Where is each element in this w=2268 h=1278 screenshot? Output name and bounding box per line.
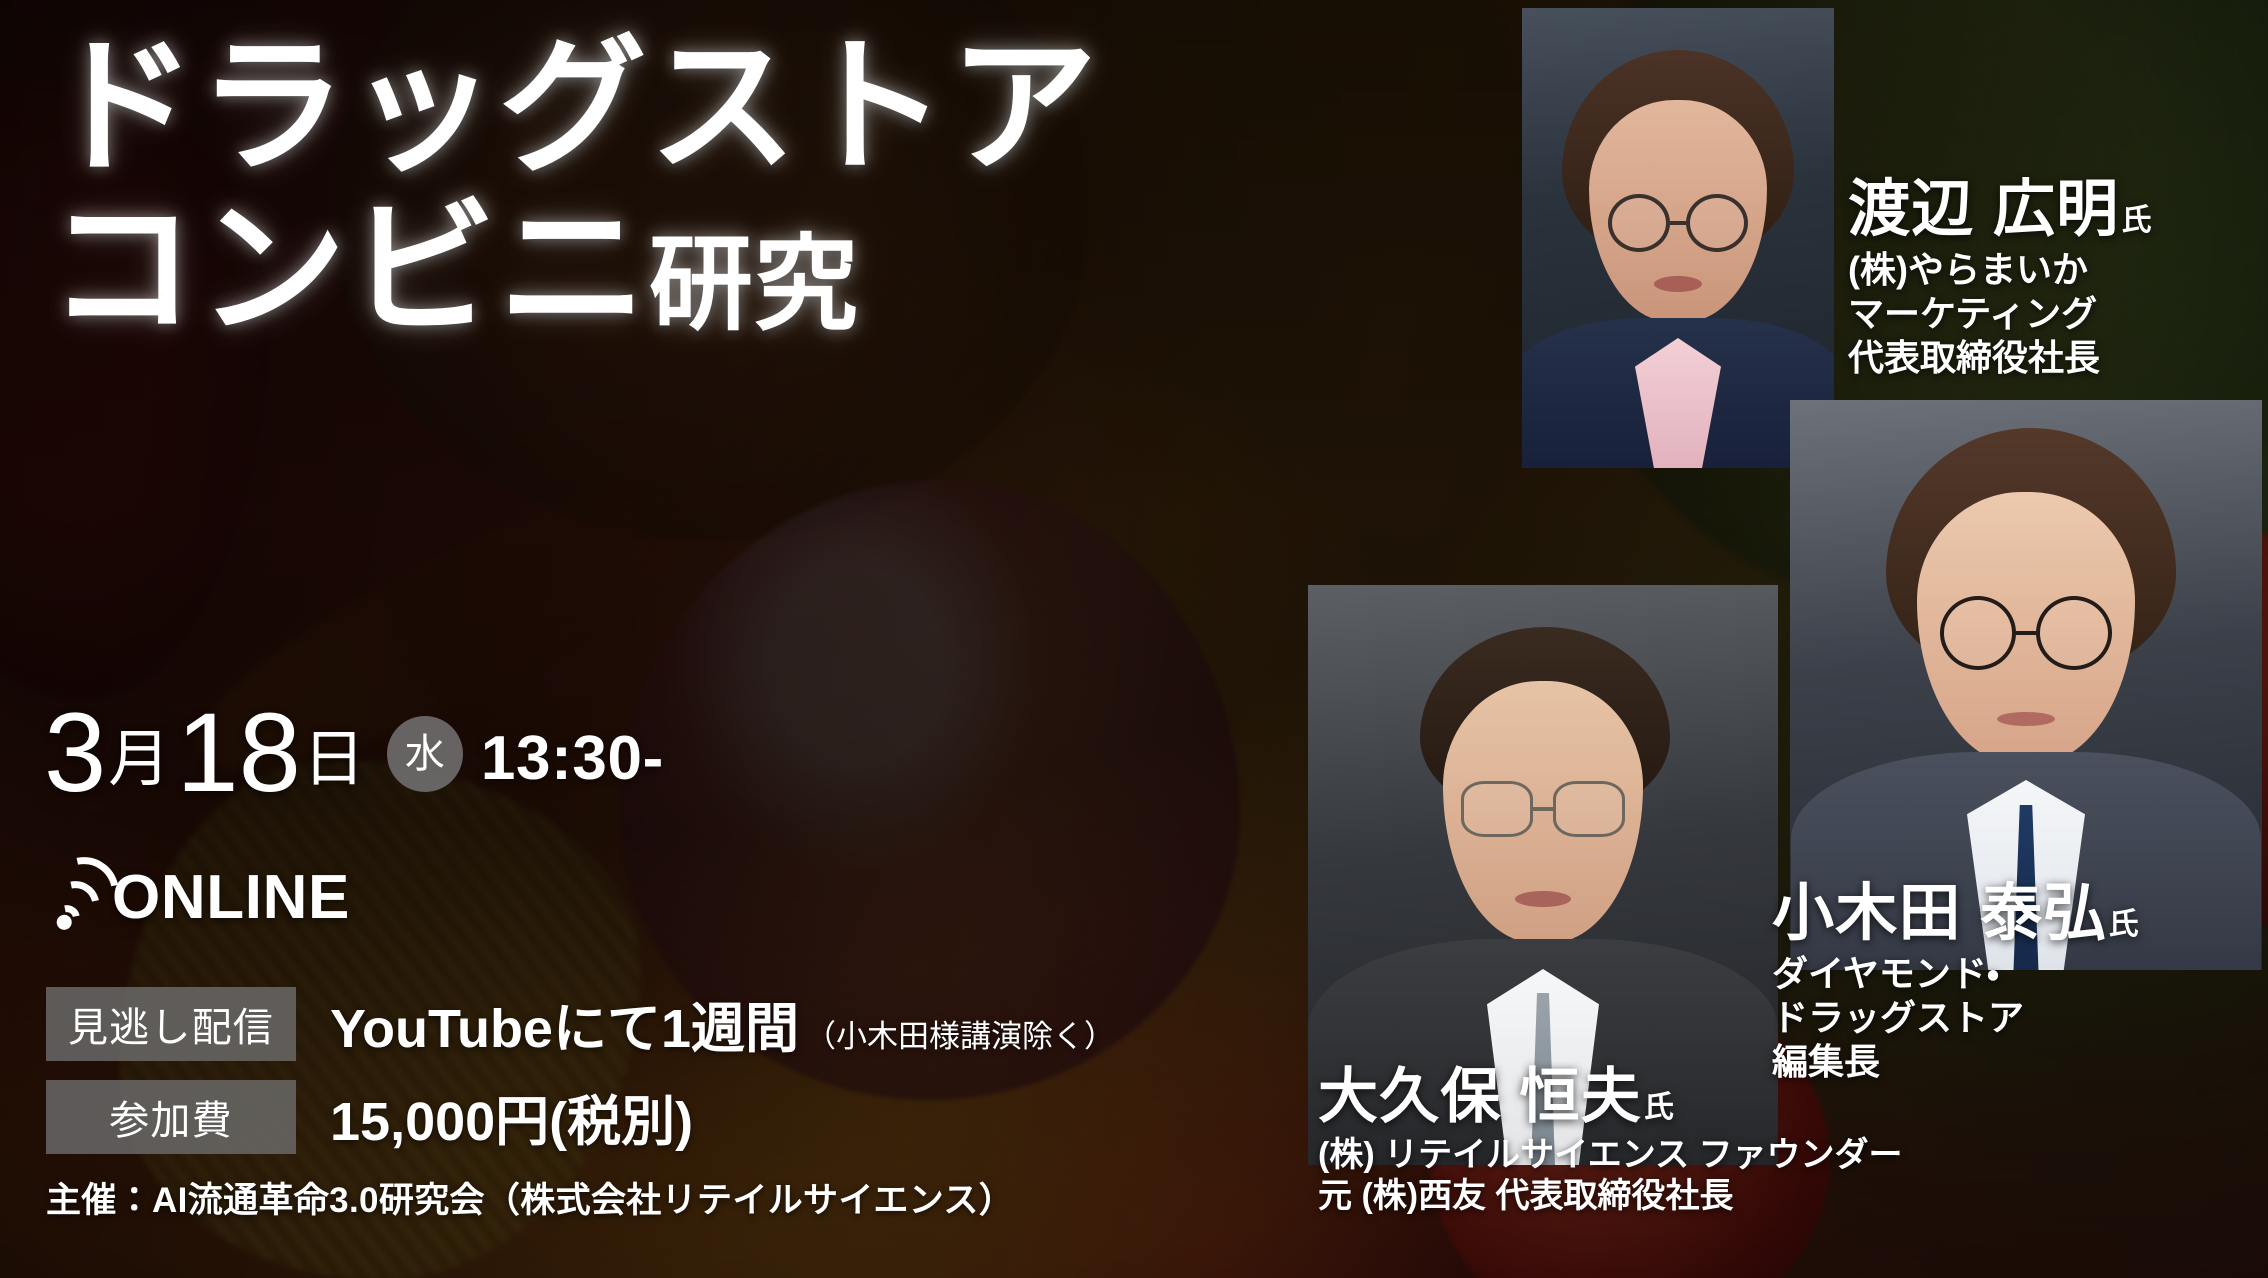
speaker-name-suffix: 氏 xyxy=(2109,899,2140,943)
info-row: 見逃し配信 YouTubeにて1週間 （小木田様講演除く） xyxy=(46,984,1115,1063)
speaker-affiliation-line: 元 (株)西友 代表取締役社長 xyxy=(1318,1176,1903,1217)
info-table: 見逃し配信 YouTubeにて1週間 （小木田様講演除く） 参加費 15,000… xyxy=(46,984,1115,1170)
speaker-affiliation-line: ダイヤモンド・ xyxy=(1772,952,2140,996)
speaker-name-text: 小木田 泰弘 xyxy=(1772,862,2107,952)
day-of-week-badge: 水 xyxy=(387,716,463,792)
info-tag-fee: 参加費 xyxy=(46,1080,296,1154)
speaker-affiliation-line: (株)やらまいか xyxy=(1848,248,2153,292)
speaker-photo-watanabe xyxy=(1522,8,1834,468)
info-value-fee-text: 15,000円(税別) xyxy=(330,1077,693,1156)
speaker-affiliation-line: マーケティング xyxy=(1848,292,2153,336)
title-line-2: コンビニ研究 xyxy=(48,196,1100,344)
event-time: 13:30- xyxy=(481,723,664,794)
glasses-icon xyxy=(1461,781,1625,837)
glasses-icon xyxy=(1940,596,2112,670)
host-organizer: 主催：AI流通革命3.0研究会（株式会社リテイルサイエンス） xyxy=(46,1172,1014,1223)
wifi-icon xyxy=(38,857,123,938)
mouth xyxy=(1997,712,2055,726)
title-line-2-suffix: 研究 xyxy=(649,227,859,343)
left-content-column: ドラッグストア コンビニ研究 3 月 18 日 水 13:30- ONLINE … xyxy=(0,0,1260,1278)
speaker-name: 大久保 恒夫 氏 xyxy=(1318,1048,1903,1135)
seminar-banner: ドラッグストア コンビニ研究 3 月 18 日 水 13:30- ONLINE … xyxy=(0,0,2268,1278)
day-of-week-label: 水 xyxy=(405,734,445,774)
info-row: 参加費 15,000円(税別) xyxy=(46,1077,1115,1156)
speaker-caption-watanabe: 渡辺 広明 氏 (株)やらまいか マーケティング 代表取締役社長 xyxy=(1848,158,2153,380)
delivery-format: ONLINE xyxy=(44,862,350,933)
title-line-1: ドラッグストア xyxy=(48,34,1100,182)
event-date: 3 月 18 日 水 13:30- xyxy=(44,700,664,806)
speaker-name: 小木田 泰弘 氏 xyxy=(1772,862,2140,952)
month-unit: 月 xyxy=(108,713,170,806)
speaker-affiliation-line: 代表取締役社長 xyxy=(1848,336,2153,380)
title-line-2-main: コンビニ xyxy=(48,187,649,352)
portrait-watanabe xyxy=(1522,8,1834,468)
speaker-caption-okubo: 大久保 恒夫 氏 (株) リテイルサイエンス ファウンダー 元 (株)西友 代表… xyxy=(1318,1048,1903,1218)
online-label: ONLINE xyxy=(112,862,350,933)
info-note-replay: （小木田様講演除く） xyxy=(805,1011,1115,1056)
info-value-replay: YouTubeにて1週間 （小木田様講演除く） xyxy=(330,984,1115,1063)
month-number: 3 xyxy=(44,700,106,806)
speaker-name-suffix: 氏 xyxy=(2121,195,2152,239)
speaker-name-text: 渡辺 広明 xyxy=(1848,158,2119,248)
info-value-replay-text: YouTubeにて1週間 xyxy=(330,984,799,1063)
info-value-fee: 15,000円(税別) xyxy=(330,1077,693,1156)
mouth xyxy=(1654,276,1702,292)
speaker-name: 渡辺 広明 氏 xyxy=(1848,158,2153,248)
page-title: ドラッグストア コンビニ研究 xyxy=(48,34,1100,344)
day-number: 18 xyxy=(176,700,301,806)
speaker-affiliation-line: ドラッグストア xyxy=(1772,996,2140,1040)
speaker-name-text: 大久保 恒夫 xyxy=(1318,1048,1642,1135)
info-tag-replay: 見逃し配信 xyxy=(46,987,296,1061)
glasses-icon xyxy=(1608,194,1748,252)
speaker-name-suffix: 氏 xyxy=(1644,1082,1675,1126)
mouth xyxy=(1515,891,1571,907)
day-unit: 日 xyxy=(303,713,365,806)
speaker-affiliation-line: (株) リテイルサイエンス ファウンダー xyxy=(1318,1135,1903,1176)
